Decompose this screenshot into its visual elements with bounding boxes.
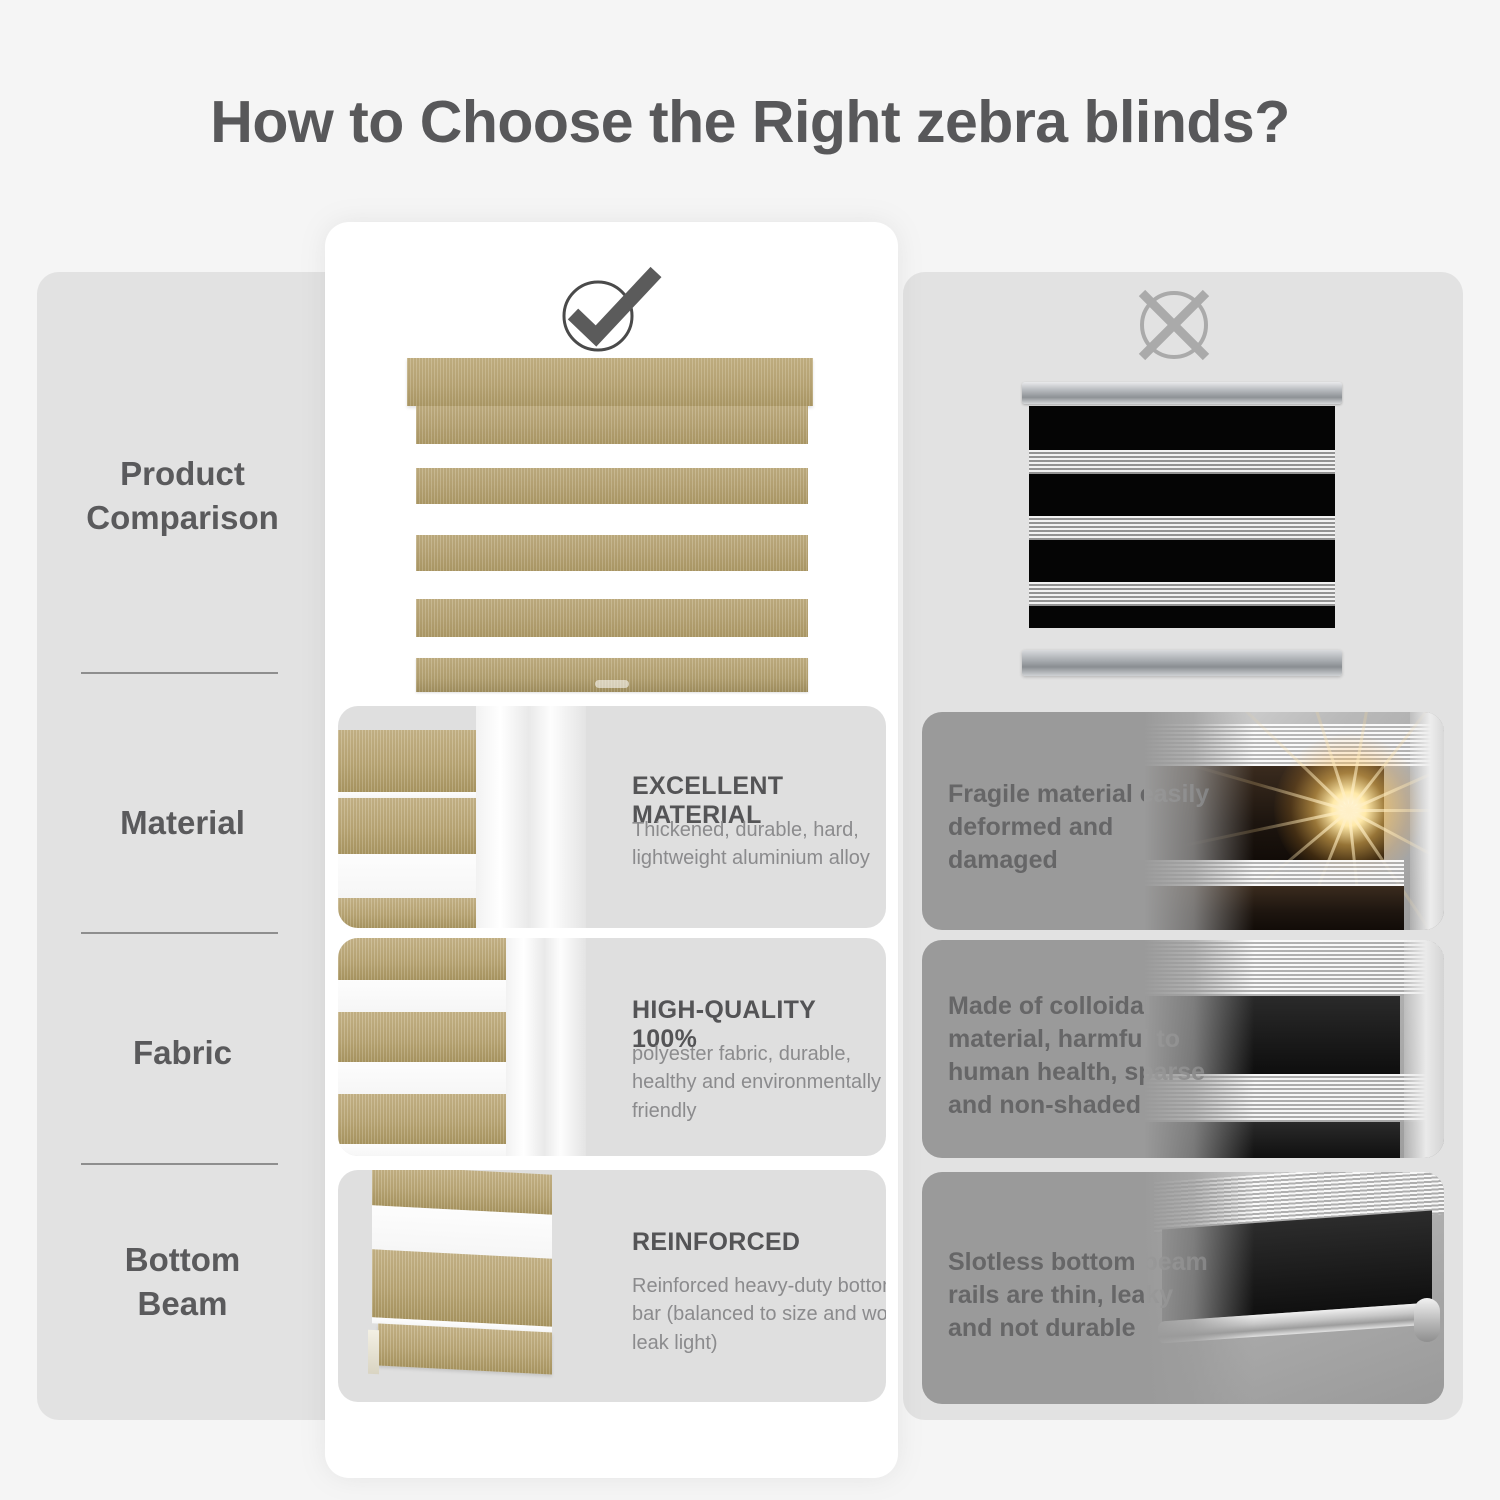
blind-pull-tab — [595, 680, 629, 688]
row-label-material-text: Material — [120, 804, 245, 841]
product-image-black-zebra-blind — [1022, 382, 1342, 676]
bad-feature-card-bottom-beam: Slotless bottom beam rails are thin, lea… — [922, 1172, 1444, 1404]
row-label-bottom-beam-text: Bottom Beam — [125, 1241, 240, 1322]
good-feature-body: Thickened, durable, hard, lightweight al… — [632, 816, 886, 873]
good-feature-card-material: EXCELLENT MATERIAL Thickened, durable, h… — [338, 706, 886, 928]
blind-sheer-stripe — [1029, 582, 1335, 606]
good-feature-image-fabric — [338, 938, 586, 1156]
row-label-material: Material — [60, 801, 305, 845]
page-title: How to Choose the Right zebra blinds? — [0, 88, 1500, 156]
row-label-line-1: Product Comparison — [86, 455, 279, 536]
good-feature-image-bottom-beam — [338, 1170, 586, 1402]
blind-sheer-stripe — [1029, 450, 1335, 474]
blind-band — [416, 406, 808, 444]
good-feature-image-material — [338, 706, 586, 928]
cross-mark-icon — [1130, 283, 1218, 367]
row-label-bottom-beam: Bottom Beam — [60, 1238, 305, 1326]
row-divider-1 — [81, 672, 278, 674]
bad-feature-card-material: Fragile material easily deformed and dam… — [922, 712, 1444, 930]
blind-headrail — [1022, 382, 1342, 404]
infographic-root: How to Choose the Right zebra blinds? Pr… — [0, 0, 1500, 1500]
row-label-fabric-text: Fabric — [133, 1034, 232, 1071]
good-feature-body: Reinforced heavy-duty bottom bar (balanc… — [632, 1272, 886, 1357]
blind-fabric — [1029, 406, 1335, 628]
bad-feature-image-material — [1144, 712, 1444, 930]
bad-feature-card-fabric: Made of colloidal material, harmful to h… — [922, 940, 1444, 1158]
good-feature-heading: REINFORCED — [632, 1228, 800, 1257]
row-divider-3 — [81, 1163, 278, 1165]
blind-band — [416, 535, 808, 571]
blind-headrail — [407, 358, 813, 406]
blind-bottom-bar — [416, 658, 808, 692]
bad-feature-image-fabric — [1144, 940, 1444, 1158]
good-feature-card-fabric: HIGH-QUALITY 100% polyester fabric, dura… — [338, 938, 886, 1156]
row-label-product-comparison: Product Comparison — [60, 452, 305, 540]
blind-sheer-stripe — [1029, 516, 1335, 540]
blind-bottom-bar — [1022, 650, 1342, 676]
blind-band — [416, 468, 808, 504]
row-divider-2 — [81, 932, 278, 934]
bad-feature-image-bottom-beam — [1144, 1172, 1444, 1404]
check-mark-icon — [548, 266, 668, 358]
good-feature-body: polyester fabric, durable, healthy and e… — [632, 1040, 886, 1125]
good-feature-text-fabric: HIGH-QUALITY 100% polyester fabric, dura… — [594, 938, 886, 1156]
good-feature-text-material: EXCELLENT MATERIAL Thickened, durable, h… — [594, 706, 886, 928]
row-label-fabric: Fabric — [60, 1031, 305, 1075]
product-image-beige-zebra-blind — [410, 358, 810, 698]
good-feature-text-bottom-beam: REINFORCED Reinforced heavy-duty bottom … — [594, 1170, 886, 1402]
good-feature-card-bottom-beam: REINFORCED Reinforced heavy-duty bottom … — [338, 1170, 886, 1402]
blind-band — [416, 599, 808, 637]
